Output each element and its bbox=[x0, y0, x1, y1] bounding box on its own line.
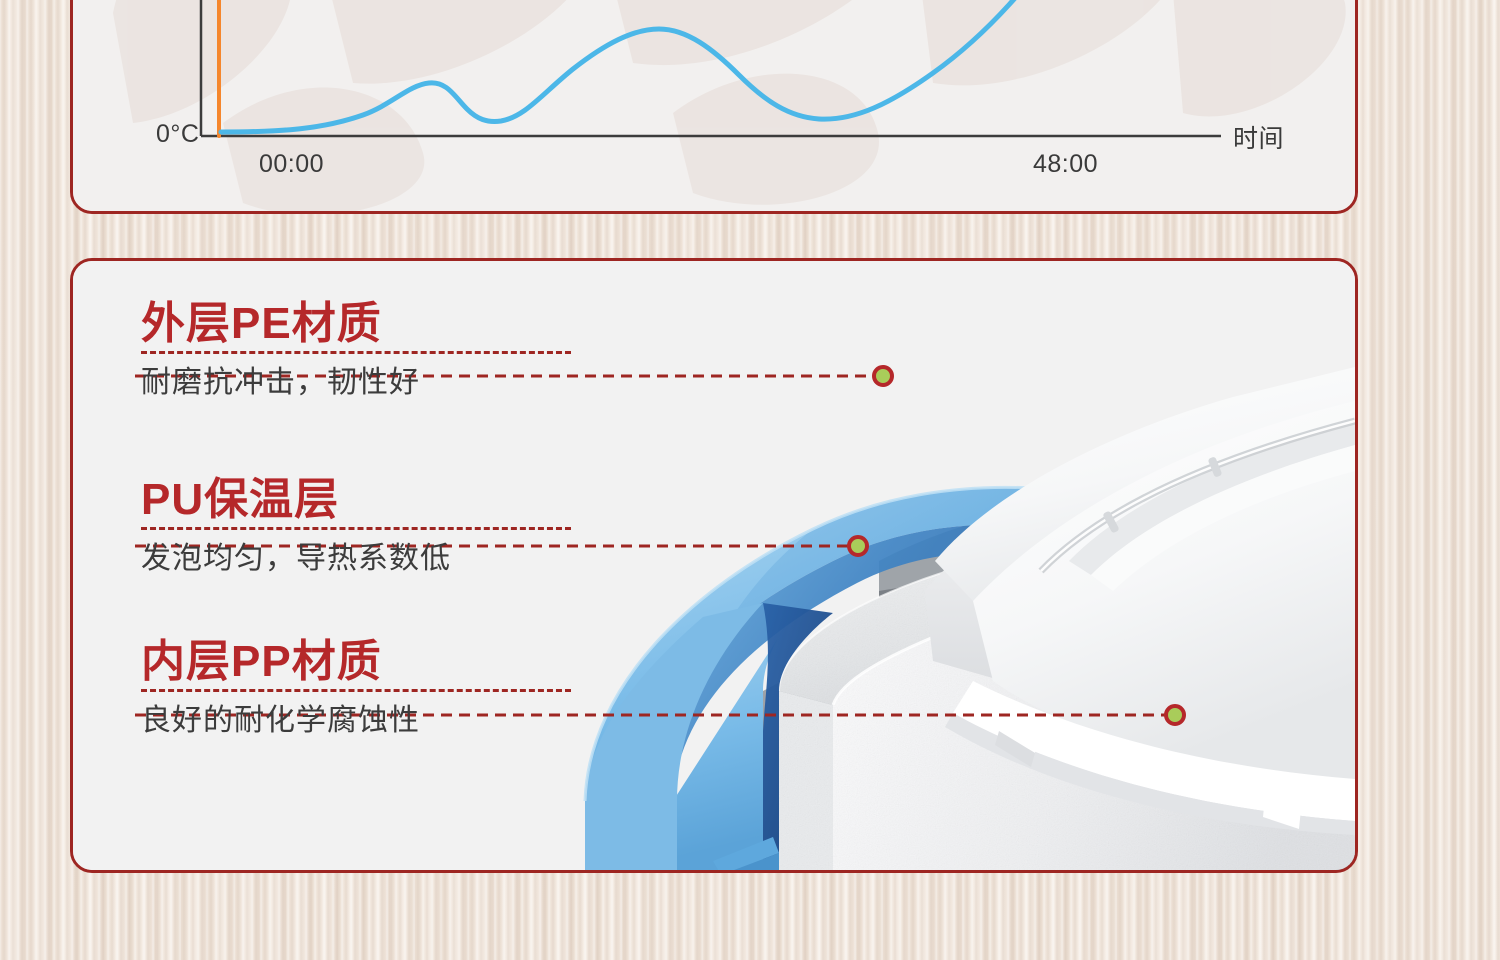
material-layers-card: 外层PE材质 耐磨抗冲击，韧性好 PU保温层 发泡均匀，导热系数低 内层PP材质… bbox=[70, 258, 1358, 873]
x-tick-end: 48:00 bbox=[1033, 150, 1098, 179]
y-axis-label: 0°C bbox=[156, 120, 199, 149]
layer-divider-1 bbox=[141, 351, 571, 354]
layer-divider-2 bbox=[141, 527, 571, 530]
layer-title-pu-insulation: PU保温层 bbox=[141, 477, 571, 523]
layer-title-inner-pp: 内层PP材质 bbox=[141, 639, 571, 685]
layer-callout-inner-pp: 内层PP材质 良好的耐化学腐蚀性 bbox=[141, 639, 571, 740]
layer-title-outer-pe: 外层PE材质 bbox=[141, 301, 571, 347]
layer-divider-3 bbox=[141, 689, 571, 692]
layer-desc-inner-pp: 良好的耐化学腐蚀性 bbox=[141, 702, 571, 740]
x-tick-start: 00:00 bbox=[259, 150, 324, 179]
callout-marker-2[interactable] bbox=[847, 535, 869, 557]
callout-marker-3[interactable] bbox=[1164, 704, 1186, 726]
chart-lines bbox=[73, 0, 1355, 211]
layer-callout-pu-insulation: PU保温层 发泡均匀，导热系数低 bbox=[141, 477, 571, 578]
temperature-chart-card: 0°C 00:00 48:00 时间 bbox=[70, 0, 1358, 214]
callout-marker-1[interactable] bbox=[872, 365, 894, 387]
chart-plot-area: 0°C 00:00 48:00 时间 bbox=[73, 0, 1355, 211]
series-interior-temperature bbox=[221, 0, 1205, 132]
layer-desc-outer-pe: 耐磨抗冲击，韧性好 bbox=[141, 364, 571, 402]
layer-callout-outer-pe: 外层PE材质 耐磨抗冲击，韧性好 bbox=[141, 301, 571, 402]
x-axis-label: 时间 bbox=[1233, 119, 1284, 155]
layer-desc-pu-insulation: 发泡均匀，导热系数低 bbox=[141, 540, 571, 578]
